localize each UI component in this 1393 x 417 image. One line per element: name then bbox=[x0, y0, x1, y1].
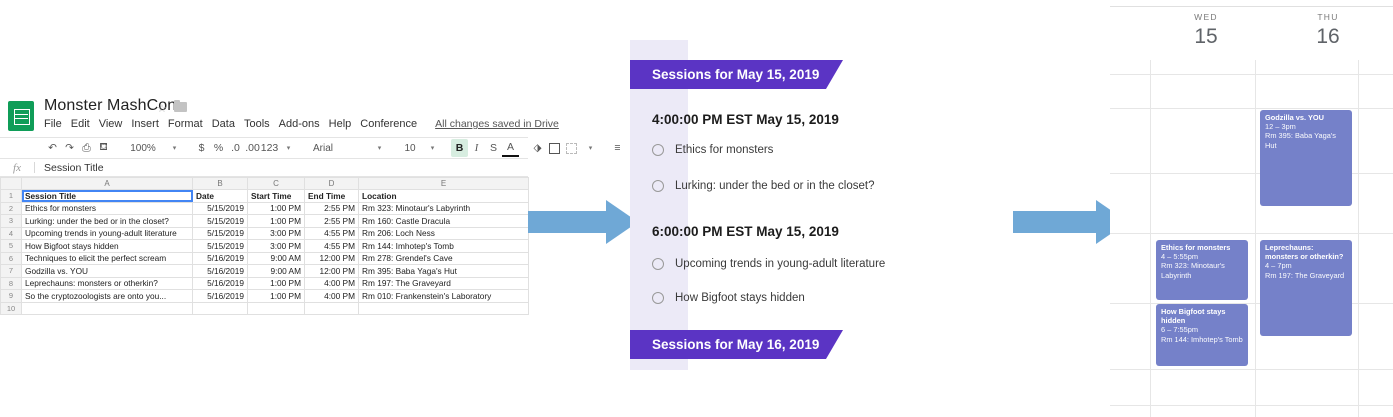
grid-body: 1 Session Title Date Start Time End Time… bbox=[1, 190, 529, 315]
event-time: 4 – 5:55pm bbox=[1161, 252, 1244, 261]
google-sheets-panel: Monster MashCon ☆ File Edit View Insert … bbox=[0, 95, 528, 317]
cell-d7[interactable]: 12:00 PM bbox=[305, 265, 359, 278]
formula-bar: fx Session Title bbox=[0, 159, 528, 177]
table-row[interactable]: 5 How Bigfoot stays hidden 5/15/2019 3:0… bbox=[1, 240, 529, 253]
text-color-button[interactable]: A bbox=[502, 139, 519, 157]
font-size-caret-icon[interactable]: ▾ bbox=[424, 139, 441, 157]
cell-a5[interactable]: How Bigfoot stays hidden bbox=[22, 240, 193, 253]
fx-icon: fx bbox=[0, 162, 34, 174]
menu-item-data[interactable]: Data bbox=[212, 118, 235, 130]
star-icon[interactable]: ☆ bbox=[157, 102, 167, 115]
calendar-event-ethics[interactable]: Ethics for monsters 4 – 5:55pm Rm 323: M… bbox=[1156, 240, 1248, 300]
font-selector[interactable]: Arial bbox=[307, 139, 369, 157]
cell-c2[interactable]: 1:00 PM bbox=[248, 202, 305, 215]
cell-b1[interactable]: Date bbox=[193, 190, 248, 203]
font-size-selector[interactable]: 10 bbox=[398, 139, 422, 157]
cell-d10[interactable] bbox=[305, 302, 359, 315]
cell-a3[interactable]: Lurking: under the bed or in the closet? bbox=[22, 215, 193, 228]
cell-c10[interactable] bbox=[248, 302, 305, 315]
row-number[interactable]: 2 bbox=[1, 202, 22, 215]
calendar-day-header-wed[interactable]: WED 15 bbox=[1156, 12, 1256, 49]
column-header-row: A B C D E bbox=[1, 178, 529, 190]
increase-decimal-icon[interactable]: .00 bbox=[244, 139, 261, 157]
cell-b5[interactable]: 5/15/2019 bbox=[193, 240, 248, 253]
cell-c1[interactable]: Start Time bbox=[248, 190, 305, 203]
formula-value[interactable]: Session Title bbox=[35, 162, 104, 174]
row-number[interactable]: 5 bbox=[1, 240, 22, 253]
cell-e7[interactable]: Rm 395: Baba Yaga's Hut bbox=[359, 265, 529, 278]
row-number[interactable]: 8 bbox=[1, 277, 22, 290]
number-format-selector[interactable]: 123 bbox=[261, 139, 278, 157]
cell-b10[interactable] bbox=[193, 302, 248, 315]
form-left-strip bbox=[630, 40, 688, 370]
calendar-day-divider bbox=[1358, 60, 1359, 417]
calendar-gridline bbox=[1110, 108, 1393, 109]
cell-d1[interactable]: End Time bbox=[305, 190, 359, 203]
event-location: Rm 197: The Graveyard bbox=[1265, 271, 1348, 280]
cell-b3[interactable]: 5/15/2019 bbox=[193, 215, 248, 228]
cell-e1[interactable]: Location bbox=[359, 190, 529, 203]
strikethrough-button[interactable]: S bbox=[485, 139, 502, 157]
day-number-label: 15 bbox=[1156, 25, 1256, 49]
cell-e3[interactable]: Rm 160: Castle Dracula bbox=[359, 215, 529, 228]
cell-e6[interactable]: Rm 278: Grendel's Cave bbox=[359, 252, 529, 265]
cell-e4[interactable]: Rm 206: Loch Ness bbox=[359, 227, 529, 240]
cell-c3[interactable]: 1:00 PM bbox=[248, 215, 305, 228]
cell-e2[interactable]: Rm 323: Minotaur's Labyrinth bbox=[359, 202, 529, 215]
row-number[interactable]: 1 bbox=[1, 190, 22, 203]
form-sheet bbox=[688, 40, 960, 370]
event-title: How Bigfoot stays hidden bbox=[1161, 307, 1244, 325]
number-format-caret-icon[interactable]: ▾ bbox=[280, 139, 297, 157]
calendar-top-divider bbox=[1110, 6, 1393, 7]
banner-label: Sessions for May 15, 2019 bbox=[652, 67, 819, 82]
currency-icon[interactable]: $ bbox=[193, 139, 210, 157]
row-number[interactable]: 6 bbox=[1, 252, 22, 265]
cell-a6[interactable]: Techniques to elicit the perfect scream bbox=[22, 252, 193, 265]
calendar-gridline bbox=[1110, 369, 1393, 370]
option-how-bigfoot-stays-hidden[interactable]: How Bigfoot stays hidden bbox=[652, 292, 805, 304]
radio-icon[interactable] bbox=[652, 292, 664, 304]
cell-a1[interactable]: Session Title bbox=[22, 190, 193, 203]
select-all-corner[interactable] bbox=[1, 178, 22, 190]
column-header-b[interactable]: B bbox=[193, 178, 248, 190]
cell-a10[interactable] bbox=[22, 302, 193, 315]
menu-item-insert[interactable]: Insert bbox=[131, 118, 159, 130]
cell-d3[interactable]: 2:55 PM bbox=[305, 215, 359, 228]
form-panel: Sessions for May 15, 2019 4:00:00 PM EST… bbox=[630, 40, 960, 370]
menu-item-addons[interactable]: Add-ons bbox=[279, 118, 320, 130]
fill-color-icon[interactable]: ⬗ bbox=[529, 139, 546, 157]
sheets-titlebar: Monster MashCon ☆ File Edit View Insert … bbox=[0, 95, 528, 137]
cell-a4[interactable]: Upcoming trends in young-adult literatur… bbox=[22, 227, 193, 240]
workflow-diagram: Monster MashCon ☆ File Edit View Insert … bbox=[0, 0, 1393, 417]
bold-button[interactable]: B bbox=[451, 139, 468, 157]
cell-a8[interactable]: Leprechauns: monsters or otherkin? bbox=[22, 277, 193, 290]
day-of-week-label: WED bbox=[1156, 12, 1256, 22]
calendar-event-leprechauns[interactable]: Leprechauns: monsters or otherkin? 4 – 7… bbox=[1260, 240, 1352, 336]
event-location: Rm 395: Baba Yaga's Hut bbox=[1265, 131, 1348, 149]
menu-item-help[interactable]: Help bbox=[329, 118, 352, 130]
calendar-gridline bbox=[1110, 405, 1393, 406]
calendar-gridline bbox=[1110, 74, 1393, 75]
radio-icon[interactable] bbox=[652, 180, 664, 192]
cell-e9[interactable]: Rm 010: Frankenstein's Laboratory bbox=[359, 290, 529, 303]
calendar-day-divider bbox=[1150, 60, 1151, 417]
time-heading-4pm: 4:00:00 PM EST May 15, 2019 bbox=[652, 112, 839, 127]
undo-icon[interactable]: ↶ bbox=[44, 139, 61, 157]
save-status[interactable]: All changes saved in Drive bbox=[435, 118, 559, 130]
italic-button[interactable]: I bbox=[468, 139, 485, 157]
option-label: Lurking: under the bed or in the closet? bbox=[675, 180, 874, 192]
sheets-toolbar: ↶ ↷ ⎙ ⛾ 100% ▾ $ % .0 .00 123 ▾ Arial ▾ … bbox=[0, 137, 528, 159]
session-banner-may-15: Sessions for May 15, 2019 bbox=[630, 60, 826, 89]
zoom-caret-icon[interactable]: ▾ bbox=[166, 139, 183, 157]
menu-item-file[interactable]: File bbox=[44, 118, 62, 130]
cell-d2[interactable]: 2:55 PM bbox=[305, 202, 359, 215]
day-of-week-label: THU bbox=[1278, 12, 1378, 22]
folder-icon[interactable] bbox=[174, 102, 187, 112]
cell-a7[interactable]: Godzilla vs. YOU bbox=[22, 265, 193, 278]
sheets-logo-icon bbox=[8, 101, 34, 131]
menu-item-conference[interactable]: Conference bbox=[360, 118, 417, 130]
arrow-shaft bbox=[1013, 211, 1096, 233]
event-time: 6 – 7:55pm bbox=[1161, 325, 1244, 334]
table-row[interactable]: 1 Session Title Date Start Time End Time… bbox=[1, 190, 529, 203]
cell-e10[interactable] bbox=[359, 302, 529, 315]
table-row[interactable]: 8 Leprechauns: monsters or otherkin? 5/1… bbox=[1, 277, 529, 290]
print-icon[interactable]: ⎙ bbox=[78, 139, 95, 157]
decrease-decimal-icon[interactable]: .0 bbox=[227, 139, 244, 157]
column-header-d[interactable]: D bbox=[305, 178, 359, 190]
radio-icon[interactable] bbox=[652, 144, 664, 156]
event-time: 4 – 7pm bbox=[1265, 261, 1348, 270]
table-row[interactable]: 6 Techniques to elicit the perfect screa… bbox=[1, 252, 529, 265]
session-banner-may-16: Sessions for May 16, 2019 bbox=[630, 330, 826, 359]
cell-b6[interactable]: 5/16/2019 bbox=[193, 252, 248, 265]
table-row[interactable]: 2 Ethics for monsters 5/15/2019 1:00 PM … bbox=[1, 202, 529, 215]
calendar-event-bigfoot[interactable]: How Bigfoot stays hidden 6 – 7:55pm Rm 1… bbox=[1156, 304, 1248, 366]
column-header-e[interactable]: E bbox=[359, 178, 529, 190]
cell-c7[interactable]: 9:00 AM bbox=[248, 265, 305, 278]
banner-label: Sessions for May 16, 2019 bbox=[652, 337, 819, 352]
paint-format-icon[interactable]: ⛾ bbox=[95, 139, 112, 157]
event-location: Rm 323: Minotaur's Labyrinth bbox=[1161, 261, 1244, 279]
event-title: Leprechauns: monsters or otherkin? bbox=[1265, 243, 1348, 261]
column-header-c[interactable]: C bbox=[248, 178, 305, 190]
font-caret-icon[interactable]: ▾ bbox=[371, 139, 388, 157]
cell-d8[interactable]: 4:00 PM bbox=[305, 277, 359, 290]
event-title: Ethics for monsters bbox=[1161, 243, 1244, 252]
option-label: Upcoming trends in young-adult literatur… bbox=[675, 258, 885, 270]
row-number[interactable]: 9 bbox=[1, 290, 22, 303]
table-row[interactable]: 4 Upcoming trends in young-adult literat… bbox=[1, 227, 529, 240]
calendar-gridline bbox=[1110, 233, 1393, 234]
menu-item-edit[interactable]: Edit bbox=[71, 118, 90, 130]
arrow-shaft bbox=[528, 211, 606, 233]
column-header-a[interactable]: A bbox=[22, 178, 193, 190]
table-row[interactable]: 7 Godzilla vs. YOU 5/16/2019 9:00 AM 12:… bbox=[1, 265, 529, 278]
row-number[interactable]: 4 bbox=[1, 227, 22, 240]
event-location: Rm 144: Imhotep's Tomb bbox=[1161, 335, 1244, 344]
cell-b9[interactable]: 5/16/2019 bbox=[193, 290, 248, 303]
option-ethics-for-monsters[interactable]: Ethics for monsters bbox=[652, 144, 773, 156]
option-upcoming-trends[interactable]: Upcoming trends in young-adult literatur… bbox=[652, 258, 885, 270]
menu-item-tools[interactable]: Tools bbox=[244, 118, 270, 130]
cell-b2[interactable]: 5/15/2019 bbox=[193, 202, 248, 215]
zoom-selector[interactable]: 100% bbox=[122, 139, 164, 157]
redo-icon[interactable]: ↷ bbox=[61, 139, 78, 157]
cell-a2[interactable]: Ethics for monsters bbox=[22, 202, 193, 215]
calendar-event-godzilla[interactable]: Godzilla vs. YOU 12 – 3pm Rm 395: Baba Y… bbox=[1260, 110, 1352, 206]
cell-d9[interactable]: 4:00 PM bbox=[305, 290, 359, 303]
cell-d6[interactable]: 12:00 PM bbox=[305, 252, 359, 265]
table-row[interactable]: 9 So the cryptozoologists are onto you..… bbox=[1, 290, 529, 303]
option-label: Ethics for monsters bbox=[675, 144, 773, 156]
calendar-panel: WED 15 THU 16 Godzilla vs. YOU 12 – 3pm … bbox=[1110, 0, 1393, 417]
menu-item-view[interactable]: View bbox=[99, 118, 123, 130]
cell-b7[interactable]: 5/16/2019 bbox=[193, 265, 248, 278]
cell-c5[interactable]: 3:00 PM bbox=[248, 240, 305, 253]
cell-b8[interactable]: 5/16/2019 bbox=[193, 277, 248, 290]
borders-icon[interactable] bbox=[546, 139, 563, 157]
spreadsheet-grid[interactable]: A B C D E 1 Session Title Date Start Tim… bbox=[0, 177, 528, 315]
percent-icon[interactable]: % bbox=[210, 139, 227, 157]
cell-d5[interactable]: 4:55 PM bbox=[305, 240, 359, 253]
event-time: 12 – 3pm bbox=[1265, 122, 1348, 131]
time-heading-6pm: 6:00:00 PM EST May 15, 2019 bbox=[652, 224, 839, 239]
calendar-day-divider bbox=[1255, 60, 1256, 417]
option-label: How Bigfoot stays hidden bbox=[675, 292, 805, 304]
menu-bar: File Edit View Insert Format Data Tools … bbox=[44, 118, 559, 130]
day-number-label: 16 bbox=[1278, 25, 1378, 49]
radio-icon[interactable] bbox=[652, 258, 664, 270]
event-title: Godzilla vs. YOU bbox=[1265, 113, 1348, 122]
cell-b4[interactable]: 5/15/2019 bbox=[193, 227, 248, 240]
arrow-sheets-to-form bbox=[528, 200, 638, 244]
cell-c4[interactable]: 3:00 PM bbox=[248, 227, 305, 240]
option-lurking[interactable]: Lurking: under the bed or in the closet? bbox=[652, 180, 874, 192]
row-number[interactable]: 7 bbox=[1, 265, 22, 278]
merge-caret-icon[interactable]: ▾ bbox=[582, 139, 599, 157]
table-row[interactable]: 3 Lurking: under the bed or in the close… bbox=[1, 215, 529, 228]
calendar-day-header-thu[interactable]: THU 16 bbox=[1278, 12, 1378, 49]
cell-c8[interactable]: 1:00 PM bbox=[248, 277, 305, 290]
menu-item-format[interactable]: Format bbox=[168, 118, 203, 130]
cell-e8[interactable]: Rm 197: The Graveyard bbox=[359, 277, 529, 290]
row-number[interactable]: 3 bbox=[1, 215, 22, 228]
cell-d4[interactable]: 4:55 PM bbox=[305, 227, 359, 240]
cell-c9[interactable]: 1:00 PM bbox=[248, 290, 305, 303]
cell-e5[interactable]: Rm 144: Imhotep's Tomb bbox=[359, 240, 529, 253]
cell-a9[interactable]: So the cryptozoologists are onto you... bbox=[22, 290, 193, 303]
row-number[interactable]: 10 bbox=[1, 302, 22, 315]
table-row[interactable]: 10 bbox=[1, 302, 529, 315]
cell-c6[interactable]: 9:00 AM bbox=[248, 252, 305, 265]
align-icon[interactable]: ≡ bbox=[609, 139, 626, 157]
merge-cells-icon[interactable] bbox=[563, 139, 580, 157]
